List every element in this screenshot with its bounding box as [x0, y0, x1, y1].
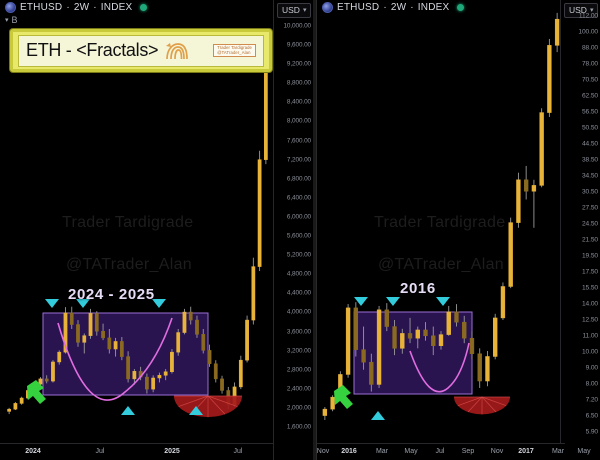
price-tick: 7,600.00: [287, 137, 311, 144]
symbol-interval[interactable]: 2W: [74, 2, 89, 13]
price-tick: 1,600.00: [287, 424, 311, 431]
price-tick: 3,600.00: [287, 328, 311, 335]
time-axis-left[interactable]: 2024Jul2025Jul: [0, 443, 273, 460]
page-title: ETH - <Fractals>: [26, 40, 158, 61]
author-badge: Trader Tardigrade @TATrader_Alan: [213, 44, 256, 58]
price-tick: 100.00: [578, 29, 598, 36]
candle: [252, 258, 255, 325]
symbol-separator-1: ·: [66, 2, 70, 13]
time-tick: Nov: [491, 448, 503, 455]
symbol-header-left[interactable]: ETHUSD · 2W · INDEX: [5, 2, 147, 13]
candle: [516, 173, 520, 228]
price-tick: 34.50: [582, 173, 598, 180]
candlestick-plot-right[interactable]: [317, 0, 565, 443]
price-tick: 112.00: [579, 13, 598, 20]
price-tick: 56.50: [582, 109, 598, 116]
candle: [258, 151, 261, 271]
price-tick: 2,400.00: [287, 385, 311, 392]
candle: [501, 282, 505, 320]
candle: [239, 356, 242, 389]
time-axis-right[interactable]: Nov2016MarMayJulSepNov2017MarMay: [317, 443, 565, 460]
price-tick: 10.00: [582, 349, 598, 356]
symbol-subheader-left[interactable]: ▾ B: [5, 15, 18, 25]
candle: [493, 314, 497, 359]
price-tick: 2,800.00: [287, 366, 311, 373]
time-tick: 2024: [25, 448, 41, 455]
chart-pane-right[interactable]: Trader Tardigrade @TATrader_Alan 2016 ET…: [316, 0, 600, 460]
red-fan-bottom: [174, 396, 242, 417]
candle: [346, 304, 350, 378]
price-tick: 14.00: [582, 301, 598, 308]
price-tick: 19.50: [582, 253, 598, 260]
candle: [14, 402, 17, 410]
price-tick: 9,200.00: [287, 61, 311, 68]
price-tick: 6.50: [586, 413, 598, 420]
live-dot-icon: [457, 4, 464, 11]
price-tick: 11.00: [582, 333, 598, 340]
swing-low-marker: [121, 406, 135, 415]
candle: [89, 309, 92, 339]
candle: [509, 218, 513, 289]
symbol-ticker[interactable]: ETHUSD: [337, 2, 379, 13]
symbol-ticker[interactable]: ETHUSD: [20, 2, 62, 13]
price-tick: 8,800.00: [287, 80, 311, 87]
chevron-down-icon[interactable]: ▾: [303, 6, 307, 14]
symbol-interval[interactable]: 2W: [391, 2, 406, 13]
candle: [524, 166, 528, 200]
candle: [51, 360, 54, 382]
price-tick: 30.50: [582, 189, 598, 196]
fractal-range-label-right: 2016: [400, 280, 436, 297]
green-breakout-arrow: [334, 385, 353, 409]
tardigrade-logo-icon: [164, 40, 190, 62]
price-tick: 8.00: [586, 381, 598, 388]
title-card-inner: ETH - <Fractals> Trader Tardigrade @TATr…: [18, 35, 264, 67]
price-tick: 50.50: [582, 125, 598, 132]
candle: [547, 39, 551, 117]
candle: [183, 309, 186, 334]
time-tick: Mar: [376, 448, 388, 455]
price-tick: 10,000.00: [283, 23, 311, 30]
symbol-separator-2: ·: [410, 2, 414, 13]
swing-low-marker: [371, 411, 385, 420]
candle: [354, 302, 358, 356]
swing-high-marker: [386, 297, 400, 306]
price-tick: 5,200.00: [287, 252, 311, 259]
time-tick: 2016: [341, 448, 357, 455]
price-tick: 17.50: [582, 269, 598, 276]
candle: [377, 306, 381, 388]
price-tick: 12.50: [582, 317, 598, 324]
price-tick: 78.00: [582, 61, 598, 68]
price-tick: 38.50: [582, 157, 598, 164]
candle: [214, 360, 217, 382]
currency-label: USD: [282, 5, 300, 15]
symbol-separator-1: ·: [383, 2, 387, 13]
symbol-header-right[interactable]: ETHUSD · 2W · INDEX: [322, 2, 464, 13]
price-tick: 9,600.00: [287, 42, 311, 49]
candle: [478, 348, 482, 388]
red-fan-bottom: [454, 397, 510, 414]
price-tick: 7.20: [586, 397, 598, 404]
price-tick: 62.50: [582, 93, 598, 100]
price-tick: 15.50: [582, 285, 598, 292]
price-tick: 27.50: [582, 205, 598, 212]
time-tick: 2025: [164, 448, 180, 455]
eth-logo-icon: [5, 2, 16, 13]
candle: [486, 351, 490, 386]
price-tick: 7,200.00: [287, 156, 311, 163]
time-tick: May: [404, 448, 417, 455]
symbol-source[interactable]: INDEX: [101, 2, 133, 13]
time-tick: Jul: [96, 448, 105, 455]
price-axis-left[interactable]: USD ▾ 10,000.009,600.009,200.008,800.008…: [273, 0, 313, 460]
price-tick: 4,000.00: [287, 309, 311, 316]
chevron-down-icon[interactable]: ▾: [5, 16, 9, 24]
time-tick: Nov: [317, 448, 329, 455]
eth-logo-icon: [322, 2, 333, 13]
price-tick: 6,400.00: [287, 194, 311, 201]
live-dot-icon: [140, 4, 147, 11]
price-tick: 88.00: [582, 45, 598, 52]
candle: [170, 349, 173, 374]
candle: [540, 108, 544, 187]
price-tick: 8,000.00: [287, 118, 311, 125]
time-tick: Sep: [462, 448, 474, 455]
price-tick: 9.00: [586, 365, 598, 372]
candle: [8, 408, 11, 414]
symbol-separator-2: ·: [93, 2, 97, 13]
time-tick: 2017: [518, 448, 534, 455]
price-tick: 5.90: [586, 429, 598, 436]
candle: [177, 329, 180, 356]
price-tick: 6,000.00: [287, 213, 311, 220]
time-tick: Jul: [234, 448, 243, 455]
candle: [447, 306, 451, 336]
time-tick: May: [577, 448, 590, 455]
currency-badge-left[interactable]: USD ▾: [277, 3, 311, 18]
fractal-range-label-left: 2024 - 2025: [68, 286, 155, 303]
price-tick: 70.50: [582, 77, 598, 84]
screenshot-root: Trader Tardigrade @TATrader_Alan 2024 - …: [0, 0, 600, 460]
title-card: ETH - <Fractals> Trader Tardigrade @TATr…: [10, 29, 272, 72]
symbol-sub-label: B: [12, 15, 18, 25]
candle: [245, 316, 248, 363]
candle: [323, 407, 327, 420]
time-tick: Jul: [436, 448, 445, 455]
candle: [532, 180, 536, 228]
price-tick: 6,800.00: [287, 175, 311, 182]
price-tick: 24.50: [582, 221, 598, 228]
price-tick: 21.50: [582, 237, 598, 244]
symbol-source[interactable]: INDEX: [418, 2, 450, 13]
price-tick: 5,600.00: [287, 233, 311, 240]
price-tick: 4,400.00: [287, 290, 311, 297]
price-tick: 2,000.00: [287, 404, 311, 411]
candle: [331, 395, 335, 411]
price-tick: 3,200.00: [287, 347, 311, 354]
swing-high-marker: [436, 297, 450, 306]
price-tick: 4,800.00: [287, 271, 311, 278]
author-badge-line2: @TATrader_Alan: [217, 51, 252, 56]
swing-high-marker: [45, 299, 59, 308]
candle: [220, 376, 223, 394]
price-tick: 8,400.00: [287, 99, 311, 106]
time-tick: Mar: [552, 448, 564, 455]
price-axis-right[interactable]: USD ▾ 112.00100.0088.0078.0070.5062.5056…: [560, 0, 600, 460]
candle: [20, 397, 23, 405]
candle: [555, 13, 559, 52]
price-tick: 44.50: [582, 141, 598, 148]
